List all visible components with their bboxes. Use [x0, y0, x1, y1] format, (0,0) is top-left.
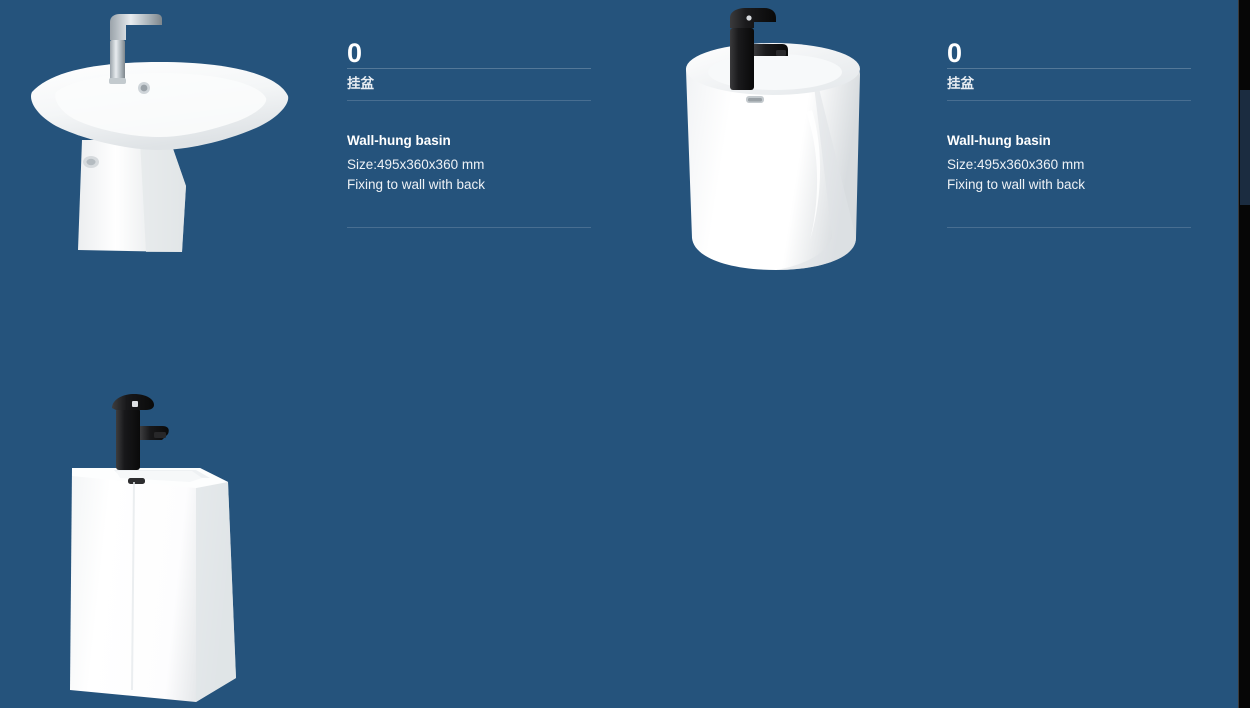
spacer: [947, 195, 1191, 227]
spacer: [947, 101, 1191, 132]
spacer: [347, 195, 591, 227]
product-catalog-page: 0 挂盆 Wall-hung basin Size:495x360x360 mm…: [0, 0, 1250, 708]
product-size: Size:495x360x360 mm: [347, 155, 591, 175]
product-title: Wall-hung basin: [947, 132, 1191, 155]
product-category-cn: 挂盆: [347, 69, 591, 100]
divider-bottom: [347, 227, 591, 228]
product-info: 0 挂盆 Wall-hung basin Size:495x360x360 mm…: [347, 38, 591, 228]
product-image-wall-hung-basin-oval-pedestal-black-faucet[interactable]: [660, 0, 900, 290]
divider-bottom: [947, 227, 1191, 228]
spacer: [347, 101, 591, 132]
vertical-scrollbar[interactable]: [1238, 0, 1250, 708]
product-title: Wall-hung basin: [347, 132, 591, 155]
product-size: Size:495x360x360 mm: [947, 155, 1191, 175]
product-card[interactable]: 0 挂盆 Wall-hung basin Size:495x360x360 mm…: [0, 425, 600, 708]
product-card[interactable]: 0 挂盆 Wall-hung basin Size:495x360x360 mm…: [0, 0, 600, 250]
product-category-cn: 挂盆: [947, 69, 1191, 100]
product-image-wall-hung-basin-square-pedestal-black-faucet[interactable]: [50, 390, 280, 708]
product-quantity: 0: [947, 38, 1191, 68]
product-quantity: 0: [347, 38, 591, 68]
product-image-wall-hung-basin-chrome-faucet-semi-pedestal[interactable]: [10, 0, 310, 260]
product-fixing: Fixing to wall with back: [947, 175, 1191, 195]
scrollbar-thumb[interactable]: [1240, 90, 1250, 205]
product-info: 0 挂盆 Wall-hung basin Size:495x360x360 mm…: [947, 38, 1191, 228]
product-card[interactable]: 0 挂盆 Wall-hung basin Size:495x360x360 mm…: [600, 0, 1200, 250]
product-fixing: Fixing to wall with back: [347, 175, 591, 195]
